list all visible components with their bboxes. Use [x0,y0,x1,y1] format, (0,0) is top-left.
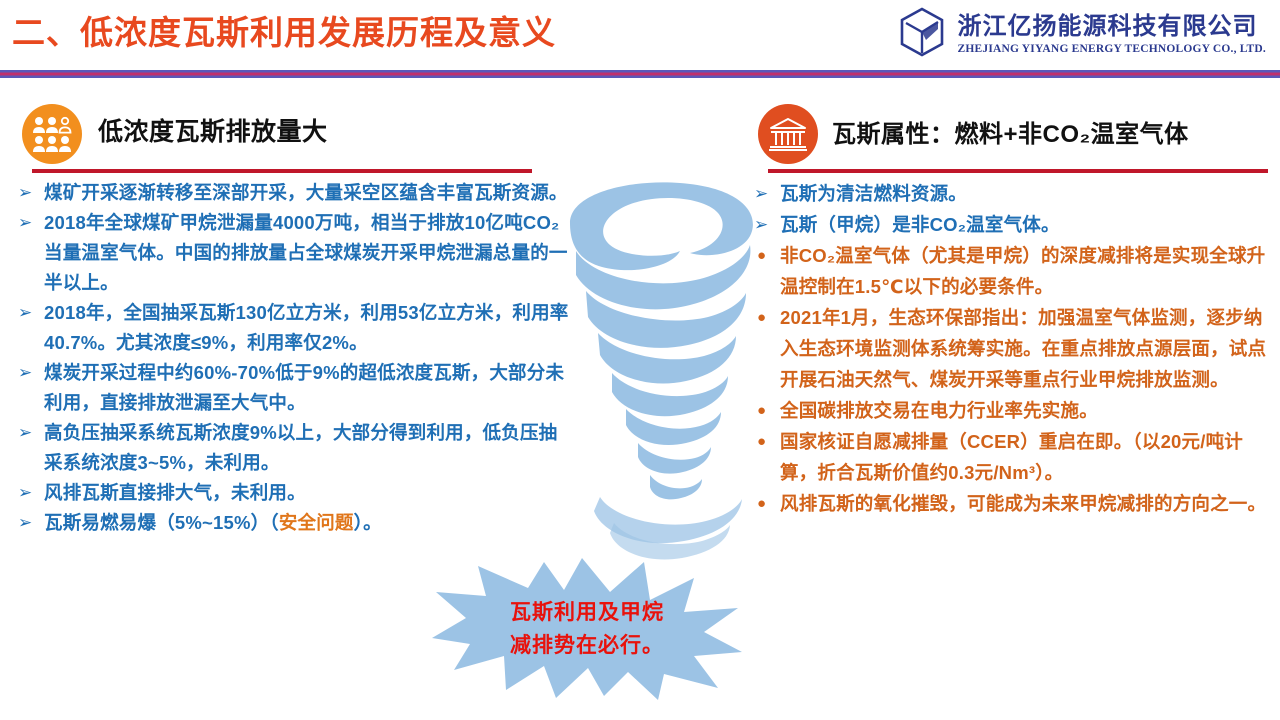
right-section-header: 瓦斯属性：燃料+非CO₂温室气体 [750,100,1270,178]
list-item-text: 风排瓦斯直接排大气，未利用。 [44,482,306,503]
left-section-rule [32,169,532,173]
callout-text: 瓦斯利用及甲烷 减排势在必行。 [432,556,742,701]
list-item-text: 瓦斯易燃易爆（5%~15%）（安全问题）。 [44,512,382,533]
list-item: ➢ 风排瓦斯直接排大气，未利用。 [14,478,574,508]
list-item-text: 煤矿开采逐渐转移至深部开采，大量采空区蕴含丰富瓦斯资源。 [44,182,568,203]
logo-name-en: ZHEJIANG YIYANG ENERGY TECHNOLOGY CO., L… [957,43,1266,55]
arrow-bullet-icon: ➢ [18,478,32,508]
callout-line-1: 瓦斯利用及甲烷 [510,596,664,629]
arrow-bullet-icon: ➢ [18,358,32,388]
logo-text-block: 浙江亿扬能源科技有限公司 ZHEJIANG YIYANG ENERGY TECH… [957,14,1266,54]
dot-bullet-icon: ● [757,395,766,426]
list-item: ➢ 瓦斯易燃易爆（5%~15%）（安全问题）。 [14,508,574,538]
page-title: 二、低浓度瓦斯利用发展历程及意义 [12,8,556,58]
header-divider [0,70,1280,78]
list-item-text: 煤炭开采过程中约60%-70%低于9%的超低浓度瓦斯，大部分未利用，直接排放泄漏… [44,362,564,413]
list-item-text: 瓦斯为清洁燃料资源。 [780,183,967,204]
list-item: ➢ 瓦斯为清洁燃料资源。 [750,178,1270,209]
bank-building-icon [758,104,818,164]
list-item: ● 非CO₂温室气体（尤其是甲烷）的深度减排将是实现全球升温控制在1.5℃以下的… [750,240,1270,302]
callout-line-2: 减排势在必行。 [510,629,664,662]
list-item-text: 2021年1月，生态环保部指出：加强温室气体监测，逐步纳入生态环境监测体系统筹实… [780,307,1266,390]
callout-starburst: 瓦斯利用及甲烷 减排势在必行。 [432,556,742,701]
logo-name-cn: 浙江亿扬能源科技有限公司 [957,14,1266,39]
left-section-header: 低浓度瓦斯排放量大 [14,100,574,178]
list-item-text: 风排瓦斯的氧化摧毁，可能成为未来甲烷减排的方向之一。 [780,493,1266,514]
right-column: 瓦斯属性：燃料+非CO₂温室气体 ➢ 瓦斯为清洁燃料资源。 ➢ 瓦斯（甲烷）是非… [750,100,1270,519]
hexagon-cube-icon [899,7,945,62]
right-section-rule [768,169,1268,173]
list-item-text: 2018年全球煤矿甲烷泄漏量4000万吨，相当于排放10亿吨CO₂当量温室气体。… [44,212,568,293]
arrow-bullet-icon: ➢ [18,178,32,208]
list-item: ● 全国碳排放交易在电力行业率先实施。 [750,395,1270,426]
list-item-text: 国家核证自愿减排量（CCER）重启在即。（以20元/吨计算，折合瓦斯价值约0.3… [780,431,1243,483]
list-item: ➢ 煤炭开采过程中约60%-70%低于9%的超低浓度瓦斯，大部分未利用，直接排放… [14,358,574,418]
list-item: ➢ 煤矿开采逐渐转移至深部开采，大量采空区蕴含丰富瓦斯资源。 [14,178,574,208]
company-logo: 浙江亿扬能源科技有限公司 ZHEJIANG YIYANG ENERGY TECH… [899,7,1266,62]
list-item-text: 2018年，全国抽采瓦斯130亿立方米，利用53亿立方米，利用率40.7%。尤其… [44,302,569,353]
dot-bullet-icon: ● [757,240,766,271]
arrow-bullet-icon: ➢ [18,208,32,238]
dot-bullet-icon: ● [757,426,766,457]
list-item: ➢ 2018年，全国抽采瓦斯130亿立方米，利用53亿立方米，利用率40.7%。… [14,298,574,358]
list-item-text: 高负压抽采系统瓦斯浓度9%以上，大部分得到利用，低负压抽采系统浓度3~5%，未利… [44,422,557,473]
list-item: ➢ 瓦斯（甲烷）是非CO₂温室气体。 [750,209,1270,240]
left-bullet-list: ➢ 煤矿开采逐渐转移至深部开采，大量采空区蕴含丰富瓦斯资源。 ➢ 2018年全球… [14,178,574,538]
right-section-title: 瓦斯属性：燃料+非CO₂温室气体 [832,114,1189,149]
list-item: ● 风排瓦斯的氧化摧毁，可能成为未来甲烷减排的方向之一。 [750,488,1270,519]
list-item: ● 国家核证自愿减排量（CCER）重启在即。（以20元/吨计算，折合瓦斯价值约0… [750,426,1270,488]
tornado-swirl-icon [540,175,780,575]
list-item: ➢ 高负压抽采系统瓦斯浓度9%以上，大部分得到利用，低负压抽采系统浓度3~5%，… [14,418,574,478]
arrow-bullet-icon: ➢ [18,418,32,448]
arrow-bullet-icon: ➢ [18,298,32,328]
highlighted-text: 安全问题 [279,512,354,533]
right-bullet-list: ➢ 瓦斯为清洁燃料资源。 ➢ 瓦斯（甲烷）是非CO₂温室气体。 ● 非CO₂温室… [750,178,1270,519]
list-item: ➢ 2018年全球煤矿甲烷泄漏量4000万吨，相当于排放10亿吨CO₂当量温室气… [14,208,574,298]
arrow-bullet-icon: ➢ [754,178,768,209]
slide-header: 二、低浓度瓦斯利用发展历程及意义 浙江亿扬能源科技有限公司 ZHEJIANG Y… [0,0,1280,72]
arrow-bullet-icon: ➢ [18,508,32,538]
list-item-text: 非CO₂温室气体（尤其是甲烷）的深度减排将是实现全球升温控制在1.5℃以下的必要… [780,245,1265,297]
people-group-icon [22,104,82,164]
arrow-bullet-icon: ➢ [754,209,768,240]
left-column: 低浓度瓦斯排放量大 ➢ 煤矿开采逐渐转移至深部开采，大量采空区蕴含丰富瓦斯资源。… [14,100,574,538]
dot-bullet-icon: ● [757,302,766,333]
list-item-text: 全国碳排放交易在电力行业率先实施。 [780,400,1098,421]
list-item-text: 瓦斯（甲烷）是非CO₂温室气体。 [780,214,1060,235]
left-section-title: 低浓度瓦斯排放量大 [98,112,328,148]
list-item: ● 2021年1月，生态环保部指出：加强温室气体监测，逐步纳入生态环境监测体系统… [750,302,1270,395]
dot-bullet-icon: ● [757,488,766,519]
